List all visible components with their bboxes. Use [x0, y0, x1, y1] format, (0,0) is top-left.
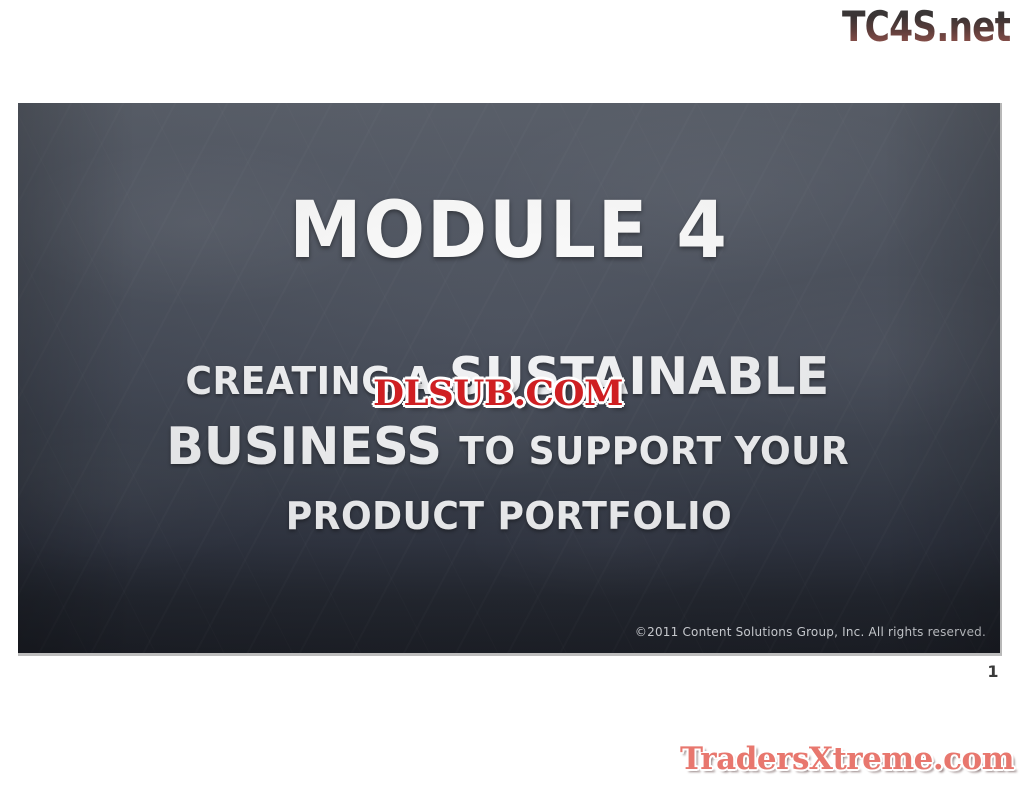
tc4s-site-logo: TC4S.net [842, 4, 1010, 50]
copyright-notice: ©2011 Content Solutions Group, Inc. All … [635, 625, 986, 639]
page-number: 1 [982, 662, 1004, 681]
slide-subtitle-line-2: BUSINESS TO SUPPORT YOUR [62, 418, 956, 488]
subtitle-segment-to-support-your: TO SUPPORT YOUR [459, 422, 849, 480]
dlsub-watermark: DLSUB.COM [373, 374, 623, 414]
subtitle-segment-product-portfolio: PRODUCT PORTFOLIO [286, 488, 732, 544]
tradersxtreme-footer-logo: TradersXtreme.com [680, 741, 1014, 777]
slide-subtitle-line-3: PRODUCT PORTFOLIO [62, 488, 956, 552]
slide-title: MODULE 4 [52, 189, 965, 273]
subtitle-segment-business: BUSINESS [166, 418, 442, 476]
